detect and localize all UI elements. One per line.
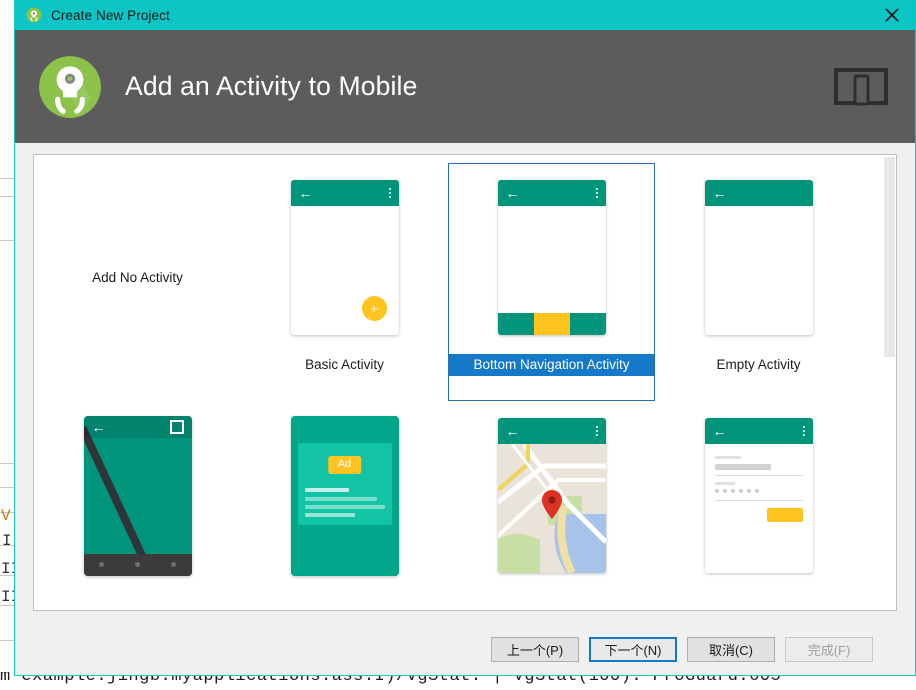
map-graphic [498, 444, 606, 573]
bottom-nav-item [498, 313, 534, 335]
finish-button: 完成(F) [785, 637, 873, 662]
dialog-body: Add No Activity ← + Basic Activity [15, 143, 915, 623]
ads-activity-thumbnail: Ad [291, 408, 399, 583]
template-bottom-navigation-activity[interactable]: ← Bottom Navigation Activity [448, 163, 655, 401]
fullscreen-expand-icon [170, 420, 184, 434]
phone-frame: ← [84, 416, 192, 576]
empty-activity-thumbnail: ← [705, 170, 813, 345]
previous-button[interactable]: 上一个(P) [491, 637, 579, 662]
gallery-scrollbar[interactable] [883, 155, 896, 610]
cancel-button[interactable]: 取消(C) [687, 637, 775, 662]
template-label [544, 592, 560, 599]
app-bar: ← [291, 180, 399, 206]
template-label: Empty Activity [708, 354, 808, 376]
dialog-titlebar: Create New Project [15, 0, 915, 30]
password-dots [715, 489, 759, 493]
phone-frame: ← [705, 180, 813, 335]
dialog-header: Add an Activity to Mobile [15, 30, 915, 143]
template-label: Add No Activity [35, 267, 240, 289]
back-arrow-icon: ← [506, 186, 520, 200]
phone-frame: Ad [291, 416, 399, 576]
field-label-placeholder [715, 456, 741, 459]
basic-activity-thumbnail: ← + [291, 170, 399, 345]
close-icon[interactable] [869, 0, 915, 30]
back-arrow-icon: ← [92, 420, 106, 434]
placeholder-line [305, 505, 385, 509]
background-text-fragment: I [2, 532, 12, 550]
bottom-navigation-activity-thumbnail: ← [498, 170, 606, 345]
overflow-menu-icon [389, 188, 391, 198]
bottom-navigation-bar [498, 313, 606, 335]
fullscreen-activity-thumbnail: ← [84, 408, 192, 583]
dialog-title: Create New Project [51, 8, 170, 23]
android-studio-logo [37, 54, 103, 120]
overflow-menu-icon [596, 188, 598, 198]
template-fullscreen-activity[interactable]: ← [34, 401, 241, 611]
android-studio-icon [26, 7, 42, 23]
overflow-menu-icon [803, 426, 805, 436]
overflow-menu-icon [596, 426, 598, 436]
template-google-maps-activity[interactable]: ← [448, 401, 655, 611]
template-empty-activity[interactable]: ← Empty Activity [655, 163, 862, 401]
field-label-placeholder [715, 482, 735, 485]
back-arrow-icon: ← [506, 424, 520, 438]
bottom-nav-item-active [534, 313, 570, 335]
back-arrow-icon: ← [713, 186, 727, 200]
floating-action-button-icon: + [362, 296, 387, 321]
page-title: Add an Activity to Mobile [125, 71, 417, 102]
ad-card: Ad [298, 443, 392, 525]
submit-button-placeholder [767, 508, 803, 522]
field-underline [715, 475, 803, 476]
template-label [130, 592, 146, 599]
template-label [751, 592, 767, 599]
nav-dot [135, 562, 140, 567]
login-activity-thumbnail: ← [705, 408, 813, 583]
placeholder-line [305, 488, 349, 492]
google-maps-activity-thumbnail: ← [498, 408, 606, 583]
dialog-footer: 上一个(P) 下一个(N) 取消(C) 完成(F) [15, 623, 915, 675]
system-navigation-bar [84, 554, 192, 576]
app-bar: ← [84, 416, 192, 438]
phone-frame: ← + [291, 180, 399, 335]
phone-frame: ← [498, 180, 606, 335]
app-bar: ← [705, 180, 813, 206]
app-bar: ← [498, 180, 606, 206]
template-add-no-activity[interactable]: Add No Activity [34, 163, 241, 401]
app-bar: ← [498, 418, 606, 444]
app-bar: ← [705, 418, 813, 444]
next-button[interactable]: 下一个(N) [589, 637, 677, 662]
placeholder-line [305, 513, 355, 517]
phone-frame: ← [498, 418, 606, 573]
placeholder-line [305, 497, 377, 501]
gallery-scrollbar-thumb[interactable] [884, 157, 895, 357]
phone-frame: ← [705, 418, 813, 573]
back-arrow-icon: ← [299, 186, 313, 200]
template-label: Basic Activity [297, 354, 392, 376]
template-basic-activity[interactable]: ← + Basic Activity [241, 163, 448, 401]
template-login-activity[interactable]: ← [655, 401, 862, 611]
map-preview [498, 444, 606, 573]
activity-template-grid: Add No Activity ← + Basic Activity [34, 155, 896, 610]
tablet-and-phone-icon [833, 66, 889, 108]
field-underline [715, 500, 803, 501]
activity-template-gallery: Add No Activity ← + Basic Activity [33, 154, 897, 611]
create-new-project-dialog: Create New Project Add an Activity to Mo… [14, 0, 916, 676]
nav-dot [99, 562, 104, 567]
nav-dot [171, 562, 176, 567]
field-value-placeholder [715, 464, 771, 470]
ad-badge: Ad [328, 456, 361, 474]
template-ads-activity[interactable]: Ad [241, 401, 448, 611]
bottom-nav-item [570, 313, 606, 335]
background-text-fragment: V [1, 507, 11, 525]
template-label: Bottom Navigation Activity [449, 354, 654, 376]
template-label [337, 592, 353, 599]
back-arrow-icon: ← [713, 424, 727, 438]
